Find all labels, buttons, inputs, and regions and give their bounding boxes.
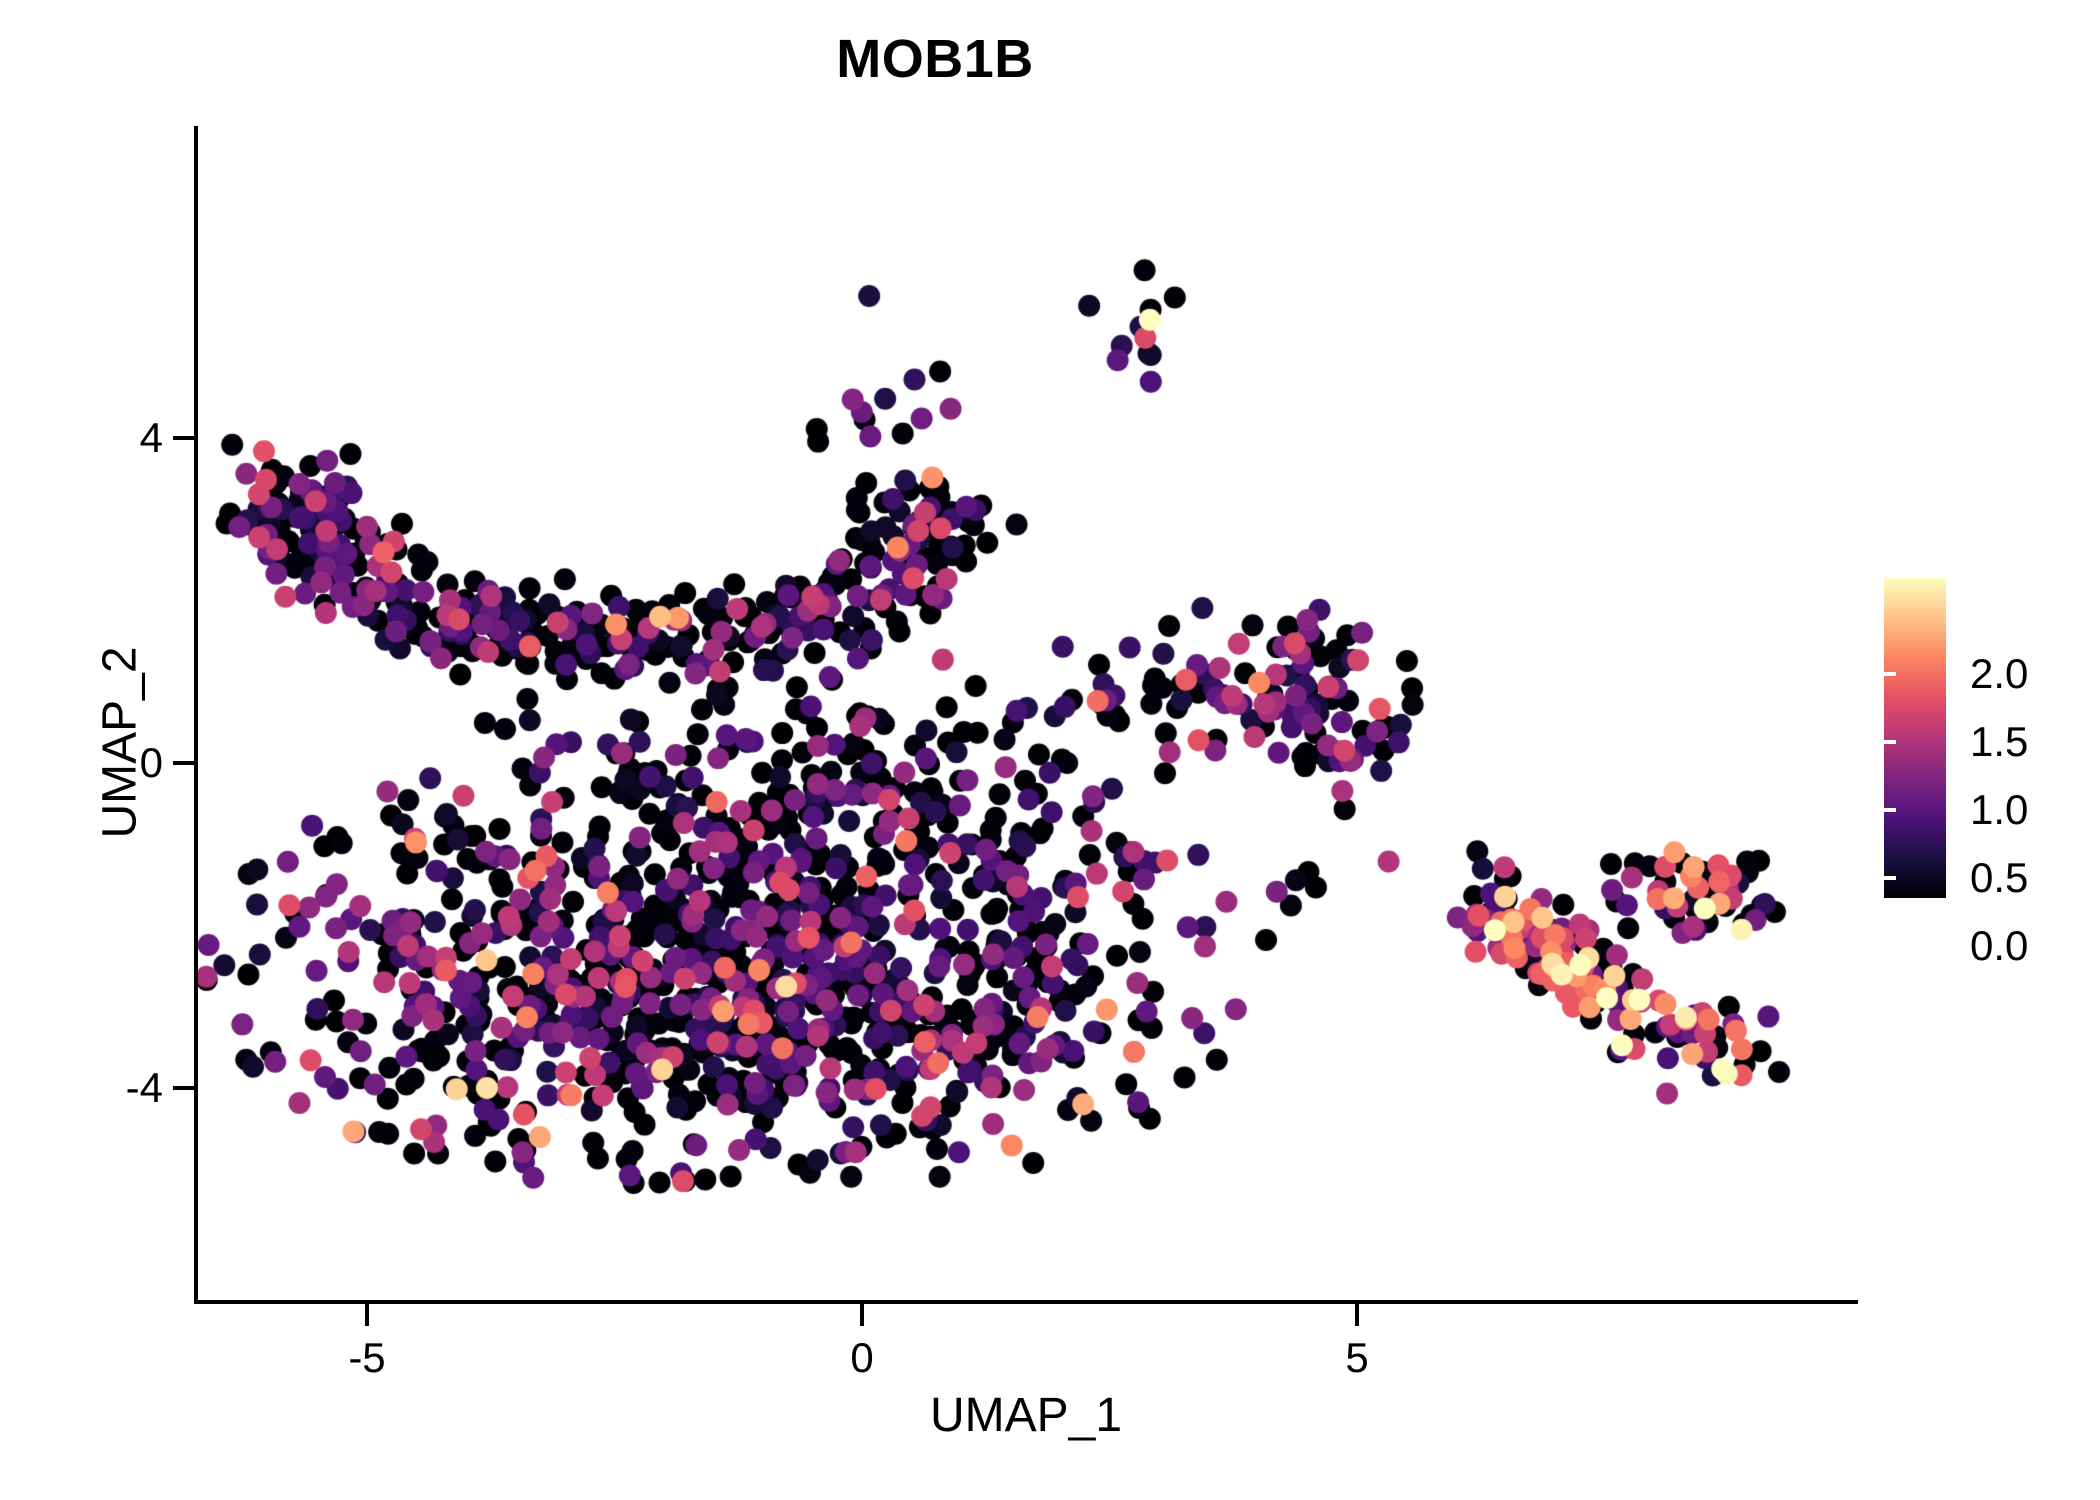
colorbar-label-1-5: 1.5 xyxy=(1970,718,2028,766)
x-tick-mark-neg5 xyxy=(365,1304,369,1326)
colorbar-tick-0-5-left xyxy=(1884,876,1896,880)
colorbar-tick-1-5-right xyxy=(1872,740,1884,744)
y-tick-label-4: 4 xyxy=(140,414,163,462)
y-tick-mark-0 xyxy=(173,761,195,765)
colorbar-tick-2-0-right xyxy=(1872,672,1884,676)
colorbar-label-1-0: 1.0 xyxy=(1970,786,2028,834)
colorbar-tick-0-5-right xyxy=(1872,876,1884,880)
feature-plot-root: MOB1B 4 0 -4 -5 0 5 UMAP_2 UMAP_1 2.0 1.… xyxy=(0,0,2100,1500)
y-axis-line xyxy=(194,126,198,1304)
x-tick-label-0: 0 xyxy=(850,1334,873,1382)
x-tick-mark-0 xyxy=(860,1304,864,1326)
colorbar-tick-2-0-left xyxy=(1884,672,1896,676)
x-tick-mark-5 xyxy=(1355,1304,1359,1326)
y-tick-label-neg4: -4 xyxy=(126,1064,163,1112)
colorbar-label-0-5: 0.5 xyxy=(1970,854,2028,902)
colorbar-label-2-0: 2.0 xyxy=(1970,650,2028,698)
y-tick-mark-4 xyxy=(173,436,195,440)
x-tick-label-5: 5 xyxy=(1345,1334,1368,1382)
colorbar-tick-1-0-left xyxy=(1884,808,1896,812)
colorbar-gradient xyxy=(1884,578,1946,898)
colorbar-label-0-0: 0.0 xyxy=(1970,922,2028,970)
colorbar-tick-1-5-left xyxy=(1884,740,1896,744)
plot-panel: 4 0 -4 -5 0 5 UMAP_2 UMAP_1 xyxy=(0,0,2100,1500)
y-tick-mark-neg4 xyxy=(173,1086,195,1090)
colorbar-tick-1-0-right xyxy=(1872,808,1884,812)
x-axis-title: UMAP_1 xyxy=(194,1388,1858,1443)
scatter-plot-canvas xyxy=(0,0,2100,1500)
x-axis-line xyxy=(194,1300,1858,1304)
x-tick-label-neg5: -5 xyxy=(348,1334,385,1382)
y-axis-title: UMAP_2 xyxy=(93,543,148,943)
